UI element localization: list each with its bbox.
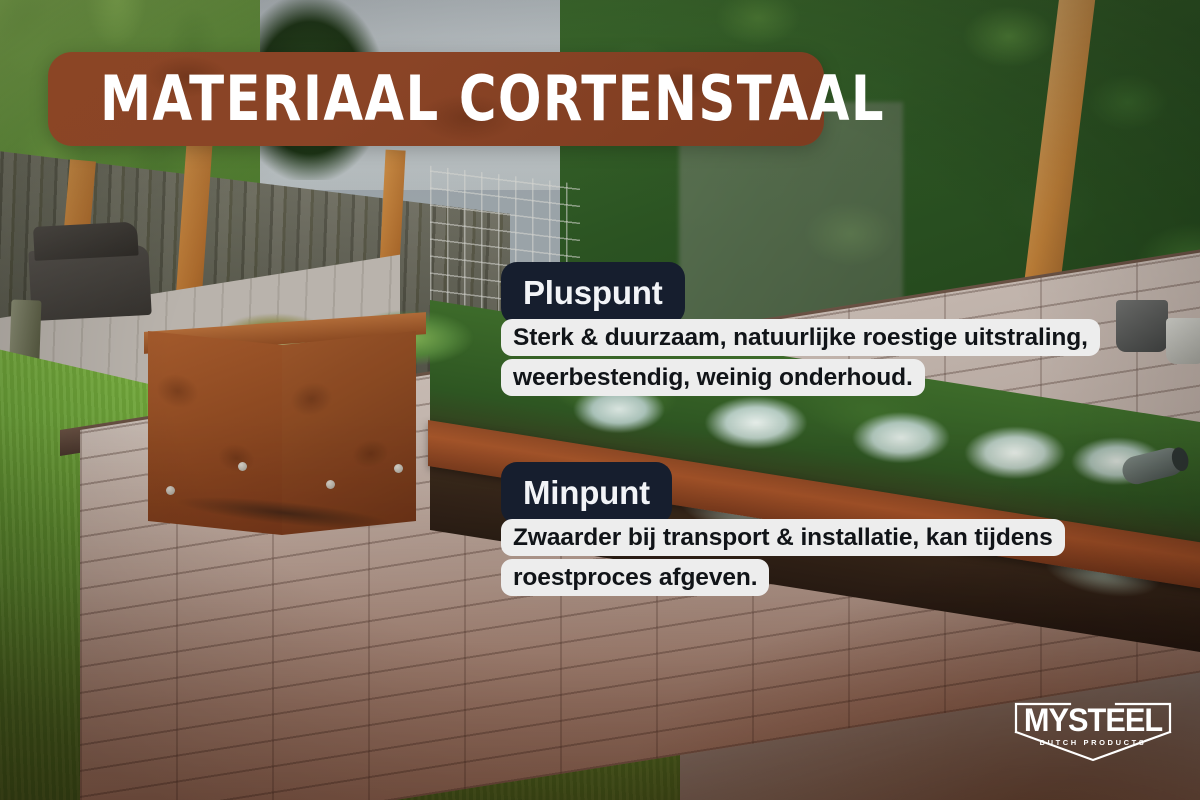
garden-pot	[1116, 300, 1168, 352]
minpunt-block: Minpunt Zwaarder bij transport & install…	[501, 462, 1097, 597]
title-banner: MATERIAAL CORTENSTAAL	[48, 52, 824, 146]
grass-tuft	[838, 398, 964, 464]
logo-wordmark: MYSTEEL	[1011, 702, 1174, 739]
planter-bolt	[394, 464, 403, 473]
poster: MATERIAAL CORTENSTAAL Pluspunt Sterk & d…	[0, 0, 1200, 800]
garden-pot	[1166, 318, 1200, 364]
logo-tagline: DUTCH PRODUCTS	[1008, 738, 1178, 747]
minpunt-text: Zwaarder bij transport & installatie, ka…	[501, 518, 1097, 597]
minpunt-text-value: Zwaarder bij transport & installatie, ka…	[501, 519, 1065, 596]
garden-chair	[28, 245, 151, 321]
pluspunt-badge: Pluspunt	[501, 262, 685, 324]
mysteel-logo: MYSTEEL DUTCH PRODUCTS	[1008, 688, 1178, 766]
pluspunt-text-value: Sterk & duurzaam, natuurlijke roestige u…	[501, 319, 1100, 396]
pluspunt-block: Pluspunt Sterk & duurzaam, natuurlijke r…	[501, 262, 1097, 397]
planter-bolt	[238, 462, 247, 471]
page-title: MATERIAAL CORTENSTAAL	[100, 68, 885, 130]
planter-bolt	[326, 480, 335, 489]
pluspunt-text: Sterk & duurzaam, natuurlijke roestige u…	[501, 318, 1097, 397]
minpunt-badge: Minpunt	[501, 462, 672, 524]
